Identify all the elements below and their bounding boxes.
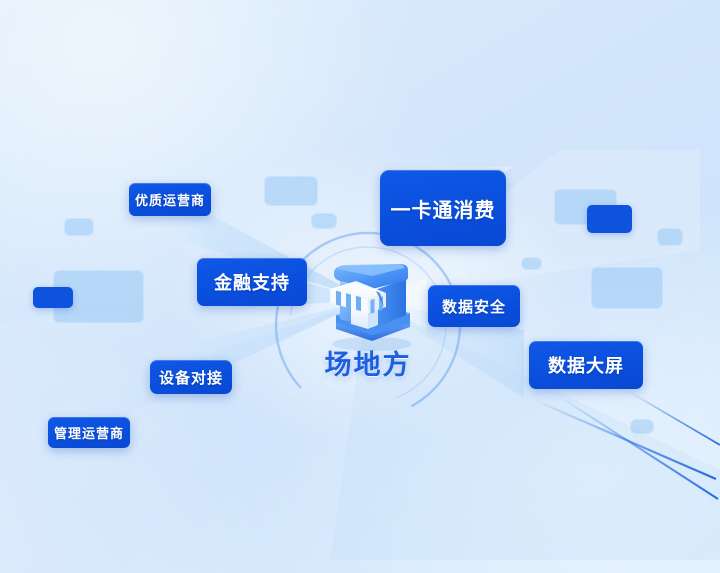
shop-storefront-icon [316, 245, 424, 351]
badge-guanli-yunyingshang[interactable]: 管理运营商 [48, 417, 130, 448]
decoration-rect [631, 420, 653, 433]
decoration-rect [522, 258, 541, 269]
decoration-rect [265, 177, 317, 205]
decoration-rect [65, 219, 93, 235]
badge-yikatong-xiaofei[interactable]: 一卡通消费 [380, 170, 506, 246]
decoration-rect [658, 229, 682, 245]
center-title: 场地方 [268, 343, 468, 382]
decoration-rect [587, 205, 632, 233]
badge-shebei-duijie[interactable]: 设备对接 [150, 360, 232, 394]
speed-lines [530, 383, 720, 503]
decoration-rect [592, 268, 662, 308]
badge-jinrong-zhichi[interactable]: 金融支持 [197, 258, 307, 306]
decoration-rect [555, 190, 616, 224]
badge-shuju-daping[interactable]: 数据大屏 [529, 341, 643, 389]
decoration-rect [54, 271, 143, 322]
infographic-canvas: 场地方 一卡通消费金融支持优质运营商管理运营商设备对接数据安全数据大屏 [0, 0, 720, 573]
badge-shuju-anquan[interactable]: 数据安全 [428, 285, 520, 327]
badge-youzhi-yunyingshang[interactable]: 优质运营商 [129, 183, 211, 216]
decoration-rect [33, 287, 73, 308]
